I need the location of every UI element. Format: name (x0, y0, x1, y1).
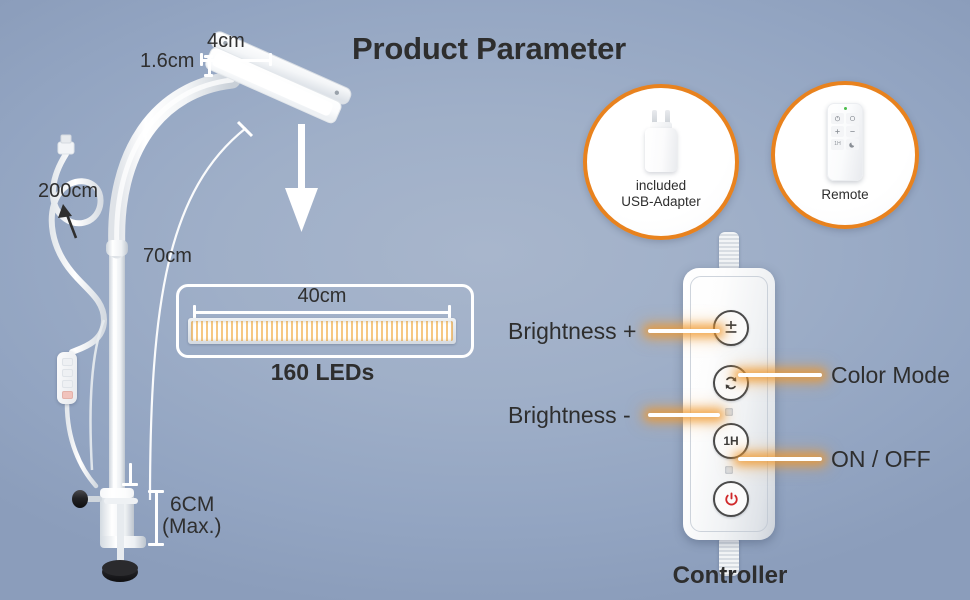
callout-label-color-mode: Color Mode (831, 362, 950, 389)
plus-minus-icon (722, 319, 740, 337)
usb-adapter-caption-line2: USB-Adapter (621, 194, 701, 210)
controller-indicator-2 (725, 466, 733, 474)
dimension-label-6cm: 6CM (170, 493, 214, 517)
dimension-bracket-top (204, 55, 213, 58)
remote-control-icon: 1H (827, 103, 863, 181)
dimension-cap-clamp (122, 483, 138, 486)
dimension-label-70cm: 70cm (143, 245, 192, 268)
remote-caption: Remote (821, 187, 868, 203)
dimension-line-40cm (193, 311, 451, 314)
dimension-tick-right (269, 53, 272, 66)
callout-label-brightness-down: Brightness - (508, 402, 631, 429)
remote-button-color-mode[interactable] (846, 113, 859, 124)
callout-line-on-off (738, 457, 822, 461)
dimension-tick-40cm-right (448, 305, 451, 319)
infographic-canvas: Product Parameter (0, 0, 970, 600)
remote-button-minus[interactable] (846, 126, 859, 137)
controller-title: Controller (640, 562, 820, 590)
dimension-tick-left (200, 53, 203, 66)
led-count-label: 160 LEDs (0, 359, 645, 386)
dimension-label-40cm: 40cm (176, 285, 468, 308)
controller-button-color-mode[interactable] (713, 365, 749, 401)
dimension-tick-clamp-top (129, 463, 132, 485)
dimension-label-4cm: 4cm (207, 30, 245, 53)
remote-button-plus[interactable] (831, 126, 844, 137)
clamp (72, 488, 146, 582)
accessory-remote: 1H Remote (771, 81, 919, 229)
accessory-usb-adapter: included USB-Adapter (583, 84, 739, 240)
remote-led-icon (844, 107, 847, 110)
dimension-cap-top-6cm (148, 490, 164, 493)
callout-line-brightness-up (648, 329, 720, 333)
callout-line-color-mode (738, 373, 822, 377)
dimension-arrow-200cm (50, 200, 90, 242)
controller-button-timer-label: 1H (723, 435, 738, 447)
led-strip (188, 318, 456, 344)
callout-line-brightness-down (648, 413, 720, 417)
led-diodes (191, 321, 453, 341)
usb-adapter-caption-line1: included (621, 178, 701, 194)
callout-label-on-off: ON / OFF (831, 446, 931, 473)
remote-button-night[interactable] (846, 139, 859, 150)
callout-label-brightness-up: Brightness + (508, 318, 637, 345)
power-icon (723, 491, 740, 508)
light-direction-arrow (285, 124, 318, 232)
controller-button-brightness-down[interactable]: 1H (713, 423, 749, 459)
controller-indicator-1 (725, 408, 733, 416)
controller-button-brightness-up[interactable] (713, 310, 749, 346)
dimension-label-max: (Max.) (162, 515, 222, 539)
inline-button-power[interactable] (62, 391, 73, 399)
remote-button-power[interactable] (831, 113, 844, 124)
controller-device: 1H (683, 268, 775, 540)
dimension-tick-40cm-left (193, 305, 196, 319)
dimension-cap-bottom-6cm (148, 543, 164, 546)
swirl-icon (722, 374, 740, 392)
controller-cord-top (719, 232, 739, 272)
remote-button-timer[interactable]: 1H (831, 139, 844, 150)
dimension-bracket-bottom (204, 74, 213, 77)
dimension-line-vertical-6cm (155, 490, 158, 546)
eu-plug-adapter-icon (641, 110, 681, 172)
dimension-label-16cm: 1.6cm (140, 50, 194, 73)
controller-button-on-off[interactable] (713, 481, 749, 517)
